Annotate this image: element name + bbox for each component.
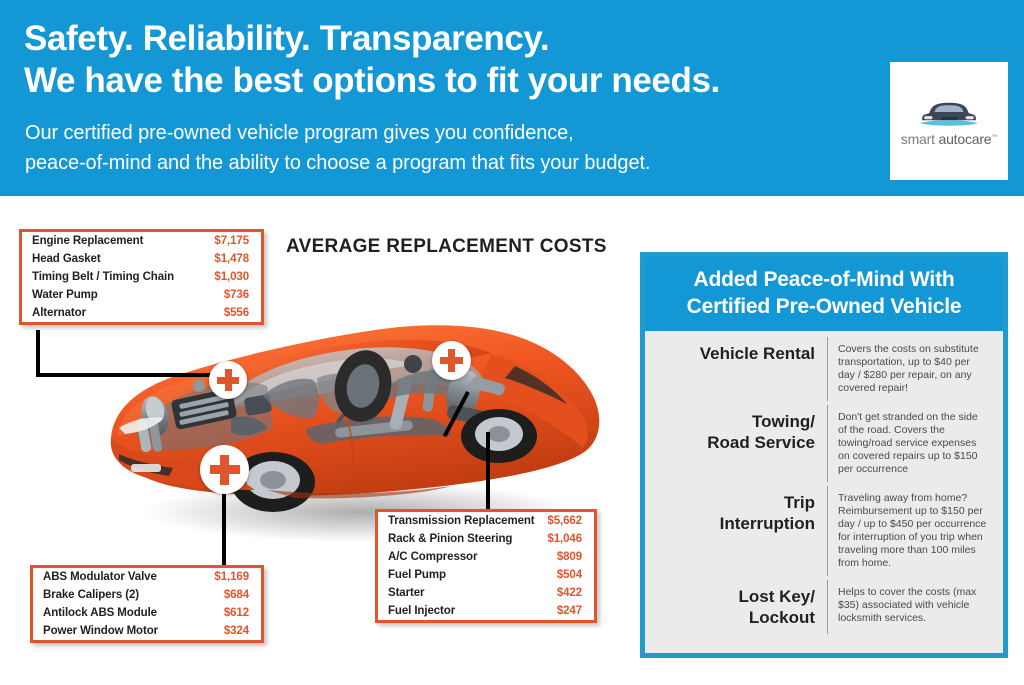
benefit-label: Trip Interruption — [655, 486, 827, 576]
benefit-vehicle-rental: Vehicle Rental Covers the costs on subst… — [655, 337, 991, 401]
part-name: A/C Compressor — [378, 548, 540, 566]
part-name: Timing Belt / Timing Chain — [22, 268, 200, 286]
drivetrain-costs-list: Transmission Replacement $5,662 Rack & P… — [378, 512, 594, 620]
table-row: Alternator $556 — [22, 304, 261, 322]
benefit-label-line-1: Lost Key/ — [738, 587, 815, 606]
table-row: A/C Compressor $809 — [378, 548, 594, 566]
infographic-page: Safety. Reliability. Transparency. We ha… — [0, 0, 1024, 685]
table-row: Timing Belt / Timing Chain $1,030 — [22, 268, 261, 286]
leader-line-abs — [222, 493, 226, 565]
part-cost: $422 — [540, 584, 594, 602]
benefit-label: Lost Key/ Lockout — [655, 580, 827, 634]
marker-front-underbody[interactable] — [200, 445, 249, 494]
table-row: Brake Calipers (2) $684 — [33, 586, 261, 604]
page-title: Safety. Reliability. Transparency. We ha… — [24, 18, 884, 102]
engine-costs-table: Engine Replacement $7,175 Head Gasket $1… — [19, 229, 264, 325]
part-name: Power Window Motor — [33, 622, 193, 640]
part-cost: $684 — [193, 586, 261, 604]
subtitle-line-2: peace-of-mind and the ability to choose … — [25, 148, 875, 178]
leader-line-engine — [36, 330, 40, 376]
section-title-average-replacement-costs: AVERAGE REPLACEMENT COSTS — [286, 236, 607, 258]
panel-heading: Added Peace-of-Mind With Certified Pre-O… — [645, 257, 1003, 331]
benefit-description: Covers the costs on substitute transport… — [827, 337, 991, 401]
panel-heading-line-1: Added Peace-of-Mind With — [693, 268, 954, 291]
part-name: Starter — [378, 584, 540, 602]
benefit-label: Vehicle Rental — [655, 337, 827, 401]
part-name: Brake Calipers (2) — [33, 586, 193, 604]
subtitle-line-1: Our certified pre-owned vehicle program … — [25, 122, 574, 144]
part-cost: $1,046 — [540, 530, 594, 548]
added-peace-of-mind-panel: Added Peace-of-Mind With Certified Pre-O… — [640, 252, 1008, 658]
page-subtitle: Our certified pre-owned vehicle program … — [25, 118, 875, 178]
car-front-icon — [918, 95, 980, 129]
table-row: Starter $422 — [378, 584, 594, 602]
part-cost: $556 — [200, 304, 261, 322]
part-cost: $324 — [193, 622, 261, 640]
part-name: Fuel Injector — [378, 602, 540, 620]
leader-line-drivetrain-2 — [486, 432, 490, 516]
table-row: Head Gasket $1,478 — [22, 250, 261, 268]
part-cost: $809 — [540, 548, 594, 566]
part-name: Engine Replacement — [22, 232, 200, 250]
benefit-label: Towing/ Road Service — [655, 405, 827, 482]
brakes-electrical-costs-table: ABS Modulator Valve $1,169 Brake Caliper… — [30, 565, 264, 643]
benefit-description: Traveling away from home? Reimbursement … — [827, 486, 991, 576]
brand-name-light: smart — [901, 131, 939, 147]
panel-heading-line-2: Certified Pre-Owned Vehicle — [651, 293, 997, 320]
marker-engine-bay[interactable] — [209, 361, 247, 399]
part-name: Head Gasket — [22, 250, 200, 268]
benefit-label-line-1: Vehicle Rental — [700, 344, 815, 363]
part-cost: $612 — [193, 604, 261, 622]
table-row: Water Pump $736 — [22, 286, 261, 304]
benefit-lost-key-lockout: Lost Key/ Lockout Helps to cover the cos… — [655, 580, 991, 634]
benefit-description: Don't get stranded on the side of the ro… — [827, 405, 991, 482]
brakes-electrical-costs-list: ABS Modulator Valve $1,169 Brake Caliper… — [33, 568, 261, 640]
part-name: ABS Modulator Valve — [33, 568, 193, 586]
benefit-label-line-2: Lockout — [655, 607, 815, 628]
benefit-towing-road-service: Towing/ Road Service Don't get stranded … — [655, 405, 991, 482]
table-row: Fuel Injector $247 — [378, 602, 594, 620]
part-name: Fuel Pump — [378, 566, 540, 584]
drivetrain-costs-table: Transmission Replacement $5,662 Rack & P… — [375, 509, 597, 623]
plus-icon — [217, 369, 239, 391]
benefit-label-line-2: Interruption — [655, 513, 815, 534]
brand-name-bold: autocare — [939, 131, 992, 147]
table-row: Power Window Motor $324 — [33, 622, 261, 640]
part-cost: $1,030 — [200, 268, 261, 286]
part-name: Water Pump — [22, 286, 200, 304]
brand-logo-text: smart autocare™ — [901, 131, 997, 147]
part-cost: $1,478 — [200, 250, 261, 268]
benefit-label-line-1: Towing/ — [752, 412, 815, 431]
part-name: Alternator — [22, 304, 200, 322]
part-cost: $247 — [540, 602, 594, 620]
header-banner: Safety. Reliability. Transparency. We ha… — [0, 0, 1024, 196]
part-name: Transmission Replacement — [378, 512, 540, 530]
part-cost: $504 — [540, 566, 594, 584]
plus-icon — [440, 349, 463, 372]
benefit-label-line-1: Trip — [784, 493, 815, 512]
part-cost: $1,169 — [193, 568, 261, 586]
plus-icon — [210, 455, 240, 485]
benefit-description: Helps to cover the costs (max $35) assoc… — [827, 580, 991, 634]
table-row: ABS Modulator Valve $1,169 — [33, 568, 261, 586]
marker-rear-drivetrain[interactable] — [432, 341, 471, 380]
part-cost: $5,662 — [540, 512, 594, 530]
table-row: Antilock ABS Module $612 — [33, 604, 261, 622]
benefit-label-line-2: Road Service — [655, 432, 815, 453]
part-cost: $736 — [200, 286, 261, 304]
title-line-2: We have the best options to fit your nee… — [24, 60, 884, 102]
table-row: Engine Replacement $7,175 — [22, 232, 261, 250]
brand-logo: smart autocare™ — [890, 62, 1008, 180]
engine-costs-list: Engine Replacement $7,175 Head Gasket $1… — [22, 232, 261, 322]
table-row: Rack & Pinion Steering $1,046 — [378, 530, 594, 548]
title-line-1: Safety. Reliability. Transparency. — [24, 19, 549, 58]
benefits-list: Vehicle Rental Covers the costs on subst… — [645, 331, 1003, 634]
part-cost: $7,175 — [200, 232, 261, 250]
table-row: Transmission Replacement $5,662 — [378, 512, 594, 530]
part-name: Rack & Pinion Steering — [378, 530, 540, 548]
part-name: Antilock ABS Module — [33, 604, 193, 622]
table-row: Fuel Pump $504 — [378, 566, 594, 584]
benefit-trip-interruption: Trip Interruption Traveling away from ho… — [655, 486, 991, 576]
leader-line-engine-horizontal — [36, 373, 226, 377]
trademark-symbol: ™ — [991, 134, 997, 140]
